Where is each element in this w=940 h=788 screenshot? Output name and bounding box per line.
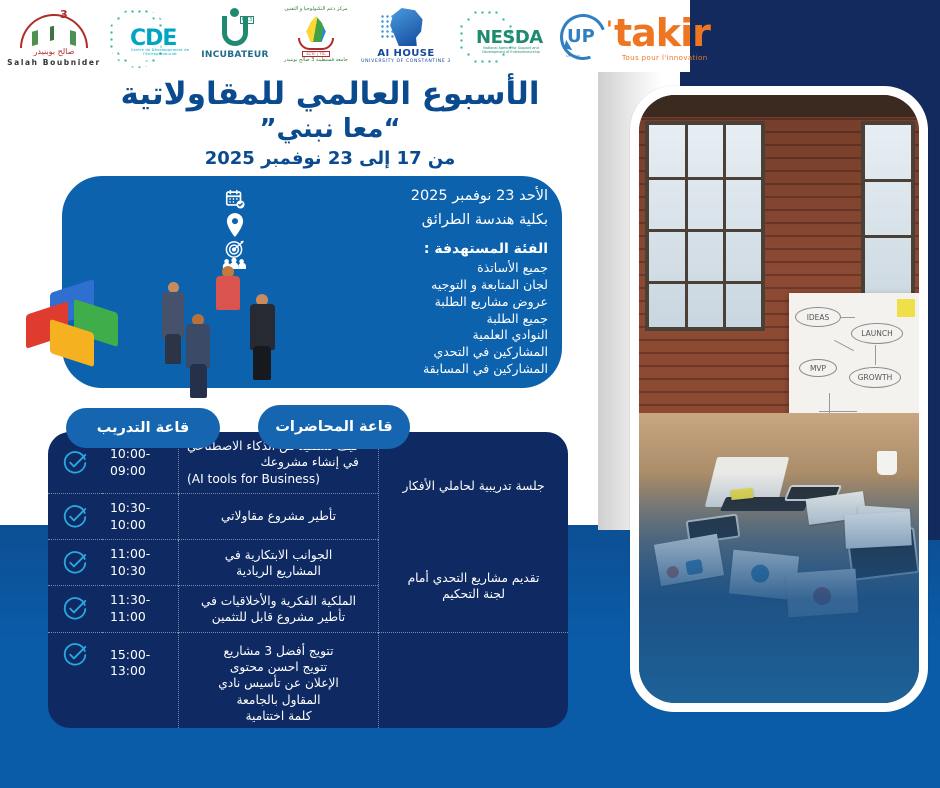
table-row: تتويج أفضل 3 مشاريع تتويج احسن محتوى الإ… (178, 633, 378, 728)
training-session-text: تقديم مشاريع التحدي أمام لجنة التحكيم (408, 570, 540, 603)
topic-text-ar: تتويج أفضل 3 مشاريع تتويج احسن محتوى الإ… (218, 643, 339, 725)
logo-up-takir: UP UP'takir ' takir Tous pour l'innovati… (556, 4, 714, 70)
university-number: 3 (60, 8, 68, 21)
poster-root: 3 صالح بوبنيدر Salah Boubnider CDE Centr… (0, 0, 940, 788)
audience-item: النوادي العلمية (262, 327, 548, 344)
whiteboard-bubble-mvp: MVP (799, 359, 837, 377)
audience-list: جميع الأساتذة لجان المتابعة و التوجيه عر… (262, 260, 548, 377)
sctc-bottom-arabic: جامعة قسنطينة 3 صالح بوبنيدر (276, 57, 356, 63)
topic-text-ar: الملكية الفكرية والأخلاقيات في تأطير مشر… (201, 593, 356, 626)
nesda-subtitle: National Agency for Support and Developm… (474, 46, 548, 54)
audience-item: المشاركين في المسابقة (262, 361, 548, 378)
up-ring-text: UP'takir (566, 54, 580, 58)
torch-bowl-icon (298, 38, 334, 50)
incubator-badge: UC3 (240, 16, 254, 24)
training-session-text: جلسة تدريبية لحاملي الأفكار (402, 478, 544, 494)
event-date-text: الأحد 23 نوفمبر 2025 (262, 186, 548, 208)
whiteboard-bubble-launch: LAUNCH (851, 323, 903, 344)
audience-item: المشاركين في التحدي (262, 344, 548, 361)
audience-item: جميع الأساتذة (262, 260, 548, 277)
table-row: تأطير مشروع مقاولاتي (178, 494, 378, 540)
topic-text-en: (AI tools for Business) (187, 471, 320, 487)
team-brainstorming-photo-frame: IDEAS LAUNCH GROWTH MVP (630, 86, 928, 712)
sticky-note (897, 299, 915, 317)
logo-cde: CDE Centre de Développement de l'Entrepr… (106, 4, 194, 70)
time-slot: 11:30-11:00 (102, 586, 178, 632)
takir-wordmark: takir (614, 14, 710, 52)
up-apostrophe: ' (606, 18, 613, 43)
calendar-check-icon (218, 186, 252, 210)
photo-blue-fade-overlay (639, 473, 919, 703)
table-row: الملكية الفكرية والأخلاقيات في تأطير مشر… (178, 586, 378, 632)
sctc-top-arabic: مركز دعم التكنولوجيا و التقنين (276, 6, 356, 12)
nesda-acronym: NESDA (476, 27, 543, 48)
whiteboard-bubble-ideas: IDEAS (795, 307, 841, 327)
audience-title: الفئة المستهدفة : (262, 238, 548, 260)
header-pill-lecture-hall[interactable]: قاعة المحاضرات (258, 405, 410, 449)
background-navy-top-right (680, 0, 940, 95)
map-pin-icon (218, 210, 252, 238)
ai-house-name: AI HOUSE (360, 48, 452, 59)
university-name-arabic: صالح بوبنيدر (6, 47, 102, 56)
sponsor-logo-bar: 3 صالح بوبنيدر Salah Boubnider CDE Centr… (0, 0, 690, 72)
topic-text-ar: الجوانب الابتكارية في المشاريع الريادية (225, 547, 332, 580)
event-location-row: بكلية هندسة الطرائق (218, 210, 548, 238)
ai-house-subtitle: UNIVERSITY OF CONSTANTINE 3 (360, 59, 452, 64)
coffee-mug (877, 451, 897, 475)
audience-item: عروض مشاريع الطلبة (262, 294, 548, 311)
poster-headline: الأسبوع العالمي للمقاولاتية “معا نبني” م… (60, 76, 600, 169)
team-brainstorming-photo: IDEAS LAUNCH GROWTH MVP (639, 95, 919, 703)
logo-ai-house: AI HOUSE UNIVERSITY OF CONSTANTINE 3 (360, 4, 452, 70)
university-name-english: Salah Boubnider (6, 58, 102, 67)
logo-incubateur: UC3 INCUBATEUR (198, 4, 272, 70)
table-row: الجوانب الابتكارية في المشاريع الريادية (178, 540, 378, 586)
window-left (645, 121, 765, 331)
incubateur-label: INCUBATEUR (198, 50, 272, 60)
time-slot: 10:30-10:00 (102, 494, 178, 540)
logo-nesda: NESDA National Agency for Support and De… (456, 4, 552, 70)
target-audience-icon (218, 238, 252, 270)
check-circle-icon (48, 494, 102, 540)
puzzle-teamwork-illustration (0, 252, 150, 412)
event-location-text: بكلية هندسة الطرائق (262, 210, 548, 232)
training-session-cell (378, 633, 568, 728)
ceiling-beam (639, 95, 919, 117)
whiteboard-bubble-growth: GROWTH (849, 367, 901, 388)
training-session-cell: جلسة تدريبية لحاملي الأفكار (378, 432, 568, 540)
time-slot: 15:00-13:00 (102, 633, 178, 728)
time-slot: 11:00-10:30 (102, 540, 178, 586)
headline-line-2: “معا نبني” (60, 113, 600, 146)
topic-text-ar: تأطير مشروع مقاولاتي (221, 508, 336, 524)
headline-line-3: من 17 إلى 23 نوفمبر 2025 (60, 148, 600, 169)
check-circle-icon (48, 540, 102, 586)
check-circle-icon (48, 633, 102, 728)
event-date-row: الأحد 23 نوفمبر 2025 (218, 186, 548, 210)
audience-item: لجان المتابعة و التوجيه (262, 277, 548, 294)
check-circle-icon (48, 586, 102, 632)
training-session-cell: تقديم مشاريع التحدي أمام لجنة التحكيم (378, 540, 568, 632)
up-mark: UP (567, 26, 595, 47)
schedule-grid: جلسة تدريبية لحاملي الأفكار كيف تستفيد م… (48, 432, 568, 728)
headline-line-1: الأسبوع العالمي للمقاولاتية (60, 76, 600, 113)
takir-tagline: Tous pour l'innovation (622, 54, 708, 62)
header-pill-training-hall[interactable]: قاعة التدريب (66, 408, 220, 448)
event-audience-text: الفئة المستهدفة : جميع الأساتذة لجان الم… (262, 238, 548, 378)
audience-item: جميع الطلبة (262, 311, 548, 328)
logo-sctc-ttc: مركز دعم التكنولوجيا و التقنين SCTC | TT… (276, 4, 356, 70)
schedule-table: جلسة تدريبية لحاملي الأفكار كيف تستفيد م… (48, 432, 568, 728)
cde-subtitle: Centre de Développement de l'Entrepreneu… (128, 48, 192, 56)
logo-university-constantine-3: 3 صالح بوبنيدر Salah Boubnider (6, 4, 102, 70)
